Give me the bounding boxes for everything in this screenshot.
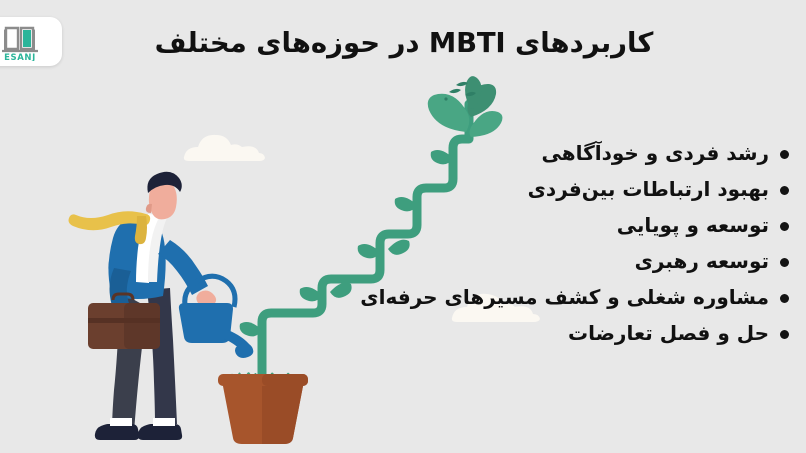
- watering-can: [179, 276, 253, 358]
- businessman: [69, 172, 217, 440]
- list-item-label: مشاوره شغلی و کشف مسیرهای حرفه‌ای: [360, 287, 769, 309]
- page-title: کاربردهای MBTI در حوزه‌های مختلف: [150, 24, 658, 63]
- brand-logo-badge[interactable]: ESANJ: [0, 17, 62, 66]
- open-book-icon: ESANJ: [0, 23, 51, 61]
- list-item-label: توسعه و پویایی: [617, 215, 769, 237]
- grass-tuft: [224, 372, 302, 386]
- bullet-dot-icon: [780, 186, 789, 195]
- bullet-dot-icon: [780, 222, 789, 231]
- briefcase: [88, 294, 160, 349]
- sparkles: [444, 82, 476, 101]
- list-item: بهبود ارتباطات بین‌فردی: [360, 172, 792, 208]
- bullet-dot-icon: [780, 330, 789, 339]
- list-item-label: رشد فردی و خودآگاهی: [542, 143, 770, 165]
- bullet-dot-icon: [780, 294, 789, 303]
- list-item-label: حل و فصل تعارضات: [568, 323, 769, 345]
- bullet-dot-icon: [780, 150, 789, 159]
- list-item-label: توسعه رهبری: [635, 251, 769, 273]
- list-item: توسعه رهبری: [360, 244, 792, 280]
- flower-pot: [218, 374, 308, 444]
- list-item: رشد فردی و خودآگاهی: [360, 136, 792, 172]
- top-sprout: [428, 76, 503, 137]
- brand-logo-text: ESANJ: [4, 53, 36, 61]
- infographic-canvas: ESANJ کاربردهای MBTI در حوزه‌های مختلف ر…: [0, 0, 806, 453]
- list-item: توسعه و پویایی: [360, 208, 792, 244]
- cloud-left: [184, 135, 265, 161]
- list-item: مشاوره شغلی و کشف مسیرهای حرفه‌ای: [360, 280, 792, 316]
- list-item: حل و فصل تعارضات: [360, 316, 792, 352]
- benefit-list: رشد فردی و خودآگاهی بهبود ارتباطات بین‌ف…: [360, 136, 792, 352]
- list-item-label: بهبود ارتباطات بین‌فردی: [528, 179, 769, 201]
- bullet-dot-icon: [780, 258, 789, 267]
